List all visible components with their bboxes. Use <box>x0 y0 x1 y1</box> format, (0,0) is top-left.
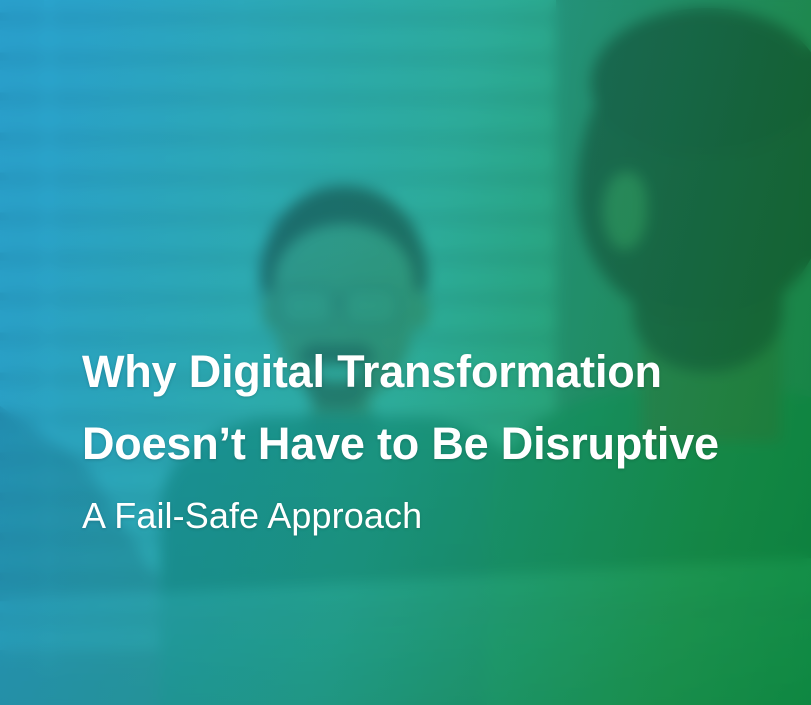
headline-line-2: Doesn’t Have to Be Disruptive <box>82 408 742 480</box>
subheadline: A Fail-Safe Approach <box>82 480 742 538</box>
banner-copy: Why Digital Transformation Doesn’t Have … <box>82 336 742 538</box>
headline-line-1: Why Digital Transformation <box>82 336 742 408</box>
hero-banner: Why Digital Transformation Doesn’t Have … <box>0 0 811 705</box>
